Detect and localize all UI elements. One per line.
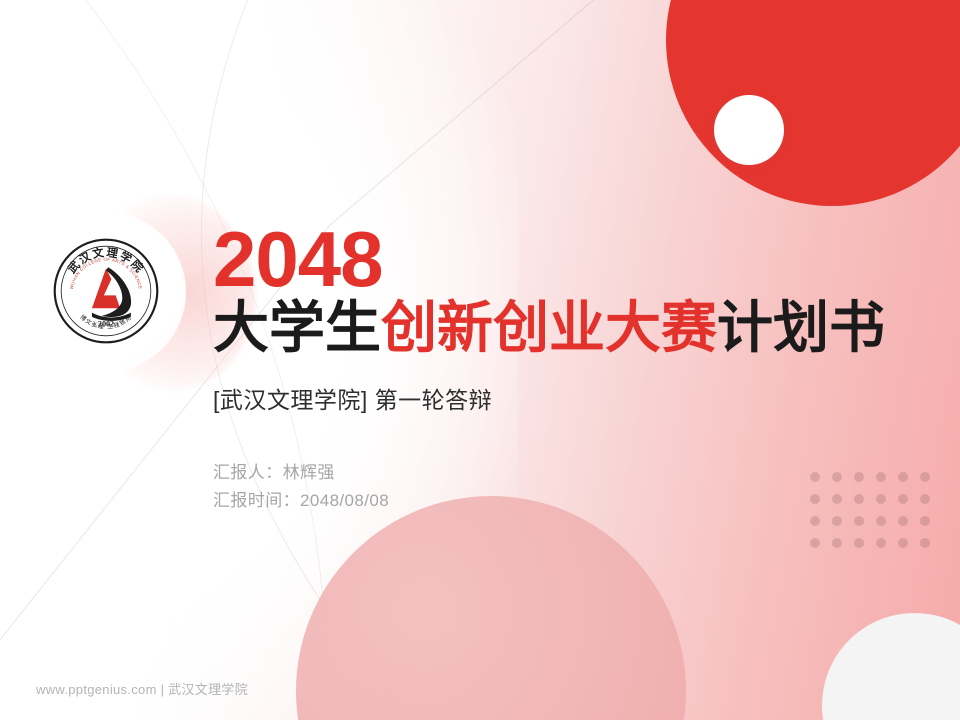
grid-dot [876, 516, 886, 526]
title-lead: 大学生 [213, 296, 381, 359]
meta-block: 汇报人：林辉强 汇报时间：2048/08/08 [213, 459, 913, 517]
grid-dot [832, 538, 842, 548]
grid-dot [898, 516, 908, 526]
title-tail: 计划书 [717, 296, 885, 359]
grid-dot [854, 538, 864, 548]
grid-dot [920, 472, 930, 482]
grid-dot [854, 516, 864, 526]
year-heading: 2048 [213, 222, 913, 296]
white-dot-top-right [714, 95, 784, 165]
grid-dot [832, 516, 842, 526]
university-logo-icon: 武汉文理学院 WUHAN COLLEGE OF ARTS & SCIENCE 博… [52, 237, 160, 345]
grid-dot [810, 538, 820, 548]
date-line: 汇报时间：2048/08/08 [213, 487, 913, 516]
grid-dot [920, 494, 930, 504]
title-slide: 武汉文理学院 WUHAN COLLEGE OF ARTS & SCIENCE 博… [0, 0, 960, 720]
grid-dot [920, 516, 930, 526]
title-text-block: 2048 大学生创新创业大赛计划书 [武汉文理学院] 第一轮答辩 汇报人：林辉强… [213, 222, 913, 516]
svg-text:· 2002 ·: · 2002 · [93, 320, 119, 329]
grid-dot [898, 538, 908, 548]
grid-dot [920, 538, 930, 548]
subtitle: [武汉文理学院] 第一轮答辩 [213, 381, 913, 415]
footer-credit: www.pptgenius.com | 武汉文理学院 [36, 679, 248, 698]
title-accent: 创新创业大赛 [381, 296, 717, 359]
grid-dot [876, 538, 886, 548]
presenter-line: 汇报人：林辉强 [213, 459, 913, 488]
grid-dot [810, 516, 820, 526]
page-title: 大学生创新创业大赛计划书 [213, 298, 913, 358]
